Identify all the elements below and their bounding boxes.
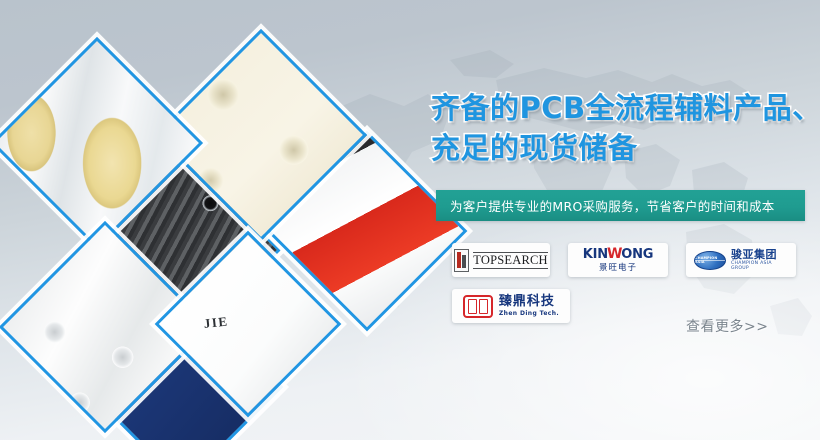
topsearch-mark-icon bbox=[454, 249, 469, 272]
tile-jie-mark: JIE bbox=[203, 314, 229, 332]
topsearch-label: TOPSEARCH bbox=[473, 252, 548, 269]
client-logo-champion-asia[interactable]: CHAMPION ASIA 骏亚集团 CHAMPION ASIA GROUP bbox=[686, 243, 796, 277]
zhending-label-en: Zhen Ding Tech. bbox=[499, 311, 559, 317]
promo-banner: JIE 齐备的PCB全流程辅料产品、 充足的现货储备 为客户提供专业的MRO采购… bbox=[0, 0, 820, 440]
kinwong-wordmark-icon: KINWONG bbox=[583, 247, 653, 261]
champion-asia-label-en: CHAMPION ASIA GROUP bbox=[731, 262, 788, 271]
headline-line-1: 齐备的PCB全流程辅料产品、 bbox=[431, 88, 820, 128]
champion-asia-label-cn: 骏亚集团 bbox=[731, 249, 788, 260]
client-logo-kinwong[interactable]: KINWONG 景旺电子 bbox=[568, 243, 668, 277]
kinwong-text-w: W bbox=[607, 247, 622, 261]
kinwong-text-kin: KIN bbox=[583, 248, 608, 261]
subtitle-bar: 为客户提供专业的MRO采购服务，节省客户的时间和成本 bbox=[436, 190, 805, 221]
product-tile-collage: JIE bbox=[0, 0, 430, 440]
view-more-link[interactable]: 查看更多>> bbox=[686, 316, 768, 336]
client-logo-topsearch[interactable]: TOPSEARCH bbox=[452, 243, 550, 277]
zhending-label-cn: 臻鼎科技 bbox=[499, 295, 559, 308]
subtitle-text: 为客户提供专业的MRO采购服务，节省客户的时间和成本 bbox=[436, 196, 775, 215]
client-logo-zhending[interactable]: 臻鼎科技 Zhen Ding Tech. bbox=[452, 289, 570, 323]
client-logo-row-1: TOPSEARCH KINWONG 景旺电子 CHAMPION ASIA bbox=[452, 243, 802, 277]
globe-icon: CHAMPION ASIA bbox=[694, 251, 726, 270]
headline: 齐备的PCB全流程辅料产品、 充足的现货储备 bbox=[431, 88, 820, 168]
kinwong-text-ong: ONG bbox=[621, 248, 653, 261]
headline-line-2: 充足的现货储备 bbox=[431, 128, 820, 168]
zhending-mark-icon bbox=[463, 295, 493, 318]
kinwong-label-cn: 景旺电子 bbox=[599, 264, 637, 273]
globe-label: CHAMPION ASIA bbox=[695, 256, 725, 264]
